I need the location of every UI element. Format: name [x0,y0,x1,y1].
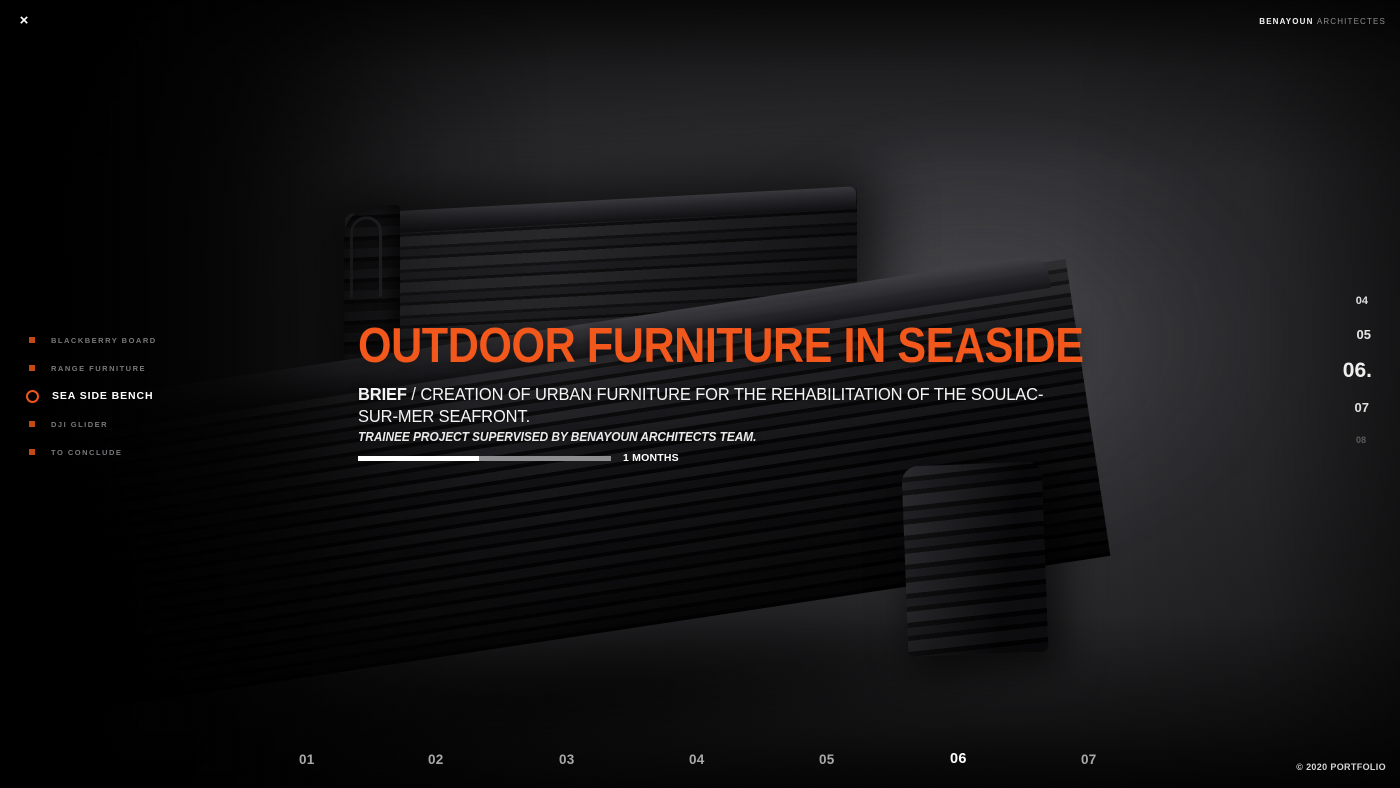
bullet-icon [29,449,35,455]
pager-item-04[interactable]: 04 [1312,296,1372,307]
sidebar-item-label: TO CONCLUDE [51,448,122,457]
slide-pagination-bottom: 01 02 03 04 05 06 07 [0,744,1400,766]
bottom-nav-01[interactable]: 01 [299,753,315,767]
duration-fill [358,456,479,461]
sidebar-item-dji-glider[interactable]: DJI GLIDER [28,410,258,438]
pager-item-08[interactable]: 08 [1312,436,1372,445]
presentation-slide: × BENAYOUN ARCHITECTES BLACKBERRY BOARD … [0,0,1400,788]
close-icon[interactable]: × [14,10,34,30]
brand-logo: BENAYOUN ARCHITECTES [1259,18,1386,26]
bullet-icon [29,365,35,371]
sidebar-item-range-furniture[interactable]: RANGE FURNITURE [28,354,258,382]
active-ring-icon [26,390,39,403]
project-duration: 1 MONTHS [358,452,679,464]
pager-item-06-active[interactable]: 06. [1312,360,1372,381]
sidebar-item-sea-side-bench[interactable]: SEA SIDE BENCH [28,382,258,410]
brief-label: BRIEF [358,384,407,404]
bottom-nav-07[interactable]: 07 [1081,753,1097,767]
duration-label: 1 MONTHS [623,452,679,464]
copyright-text: © 2020 PORTFOLIO [1296,762,1386,772]
hero-block: OUTDOOR FURNITURE IN SEASIDE BRIEF / CRE… [358,322,1118,444]
page-title: OUTDOOR FURNITURE IN SEASIDE [358,322,1027,370]
slide-pager-vertical: 04 05 06. 07 08 [1312,296,1372,445]
bottom-nav-02[interactable]: 02 [428,753,444,767]
project-sidebar: BLACKBERRY BOARD RANGE FURNITURE SEA SID… [28,326,258,466]
bottom-nav-04[interactable]: 04 [689,753,705,767]
brief-text: CREATION OF URBAN FURNITURE FOR THE REHA… [358,384,1043,426]
sidebar-item-label: BLACKBERRY BOARD [51,336,157,345]
project-note: TRAINEE PROJECT SUPERVISED BY BENAYOUN A… [358,430,1080,444]
duration-track [358,456,611,461]
brief-separator: / [407,384,420,404]
brand-name: BENAYOUN [1259,17,1313,26]
bullet-icon [29,421,35,427]
sidebar-item-to-conclude[interactable]: TO CONCLUDE [28,438,258,466]
bullet-icon [29,337,35,343]
sidebar-item-blackberry-board[interactable]: BLACKBERRY BOARD [28,326,258,354]
sidebar-item-label: SEA SIDE BENCH [52,390,153,402]
sidebar-item-label: DJI GLIDER [51,420,108,429]
pager-item-05[interactable]: 05 [1312,328,1372,341]
bottom-nav-05[interactable]: 05 [819,753,835,767]
pager-item-07[interactable]: 07 [1312,401,1372,414]
bottom-nav-06-active[interactable]: 06 [950,752,967,767]
sidebar-item-label: RANGE FURNITURE [51,364,146,373]
brief-description: BRIEF / CREATION OF URBAN FURNITURE FOR … [358,384,1054,427]
bottom-nav-03[interactable]: 03 [559,753,575,767]
brand-suffix-text: ARCHITECTES [1317,17,1386,26]
